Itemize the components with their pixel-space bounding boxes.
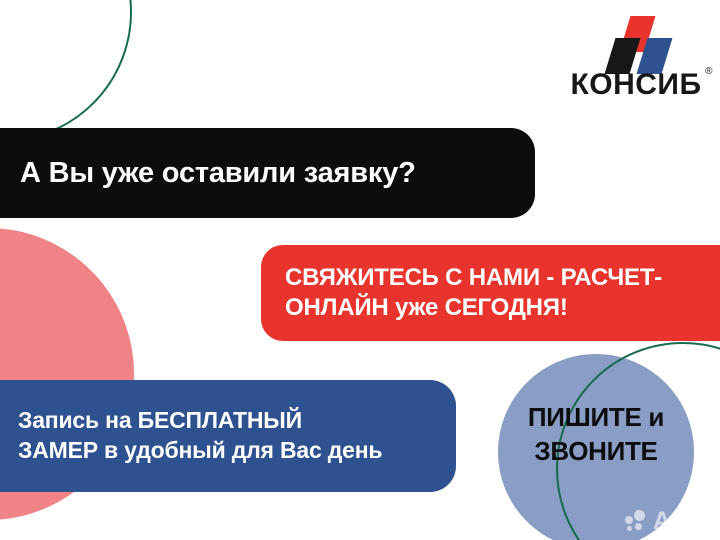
logo-wordmark: КОНСИБ [570, 68, 701, 101]
headline-question-banner: А Вы уже оставили заявку? [0, 128, 535, 218]
call-to-action-line-2: ЗВОНИТЕ [492, 434, 700, 468]
call-to-action-line-1: ПИШИТЕ и [492, 400, 700, 434]
contact-offer-line-2-part-2: уже [395, 294, 445, 321]
logo-mark-icon [597, 16, 675, 68]
registered-trademark-symbol: ® [705, 67, 712, 77]
promo-banner-canvas: КОНСИБ ® А Вы уже оставили заявку? СВЯЖИ… [0, 0, 720, 540]
avito-watermark-label: Avito [653, 509, 712, 534]
contact-offer-banner: СВЯЖИТЕСЬ С НАМИ - РАСЧЕТ- ОНЛАЙН уже СЕ… [261, 245, 720, 341]
headline-question-text: А Вы уже оставили заявку? [20, 157, 416, 190]
call-to-action-text: ПИШИТЕ и ЗВОНИТЕ [492, 400, 700, 469]
free-measurement-line-2: ЗАМЕР в удобный для Вас день [18, 436, 382, 466]
free-measurement-line-1: Запись на БЕСПЛАТНЫЙ [18, 406, 302, 436]
avito-watermark: Avito [625, 509, 712, 534]
contact-offer-line-2-part-3: СЕГОДНЯ! [445, 294, 568, 321]
logo-wordmark-row: КОНСИБ ® [570, 70, 701, 100]
contact-offer-line-2-part-1: ОНЛАЙН [285, 294, 395, 321]
contact-offer-line-1: СВЯЖИТЕСЬ С НАМИ - РАСЧЕТ- [285, 263, 662, 293]
contact-offer-line-2: ОНЛАЙН уже СЕГОДНЯ! [285, 293, 568, 323]
brand-logo: КОНСИБ ® [566, 16, 706, 100]
free-measurement-banner: Запись на БЕСПЛАТНЫЙ ЗАМЕР в удобный для… [0, 380, 456, 492]
avito-dots-icon [625, 510, 651, 534]
decorative-green-circle-outline-top-left [0, 0, 132, 142]
